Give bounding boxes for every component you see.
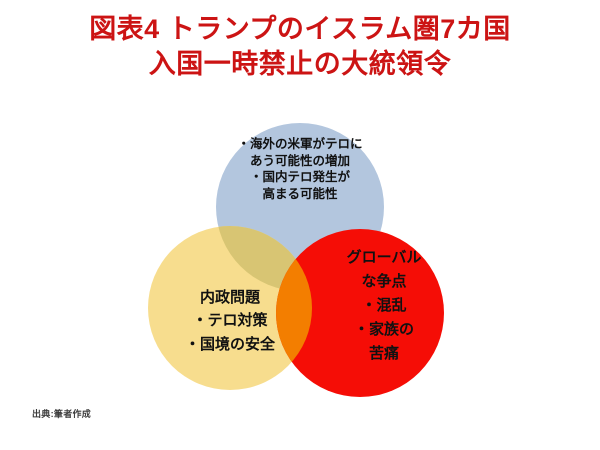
venn-top-circle-text: ・海外の米軍がテロに あう可能性の増加 ・国内テロ発生が 高まる可能性 bbox=[205, 136, 395, 203]
venn-left-line-2: ・テロ対策 bbox=[150, 309, 310, 332]
source-note: 出典:筆者作成 bbox=[32, 407, 91, 420]
venn-right-circle-text: グローバル な争点 ・混乱 ・家族の 苦痛 bbox=[320, 246, 448, 366]
venn-right-line-4: ・家族の bbox=[320, 318, 448, 342]
venn-diagram-shapes bbox=[0, 0, 600, 450]
venn-left-circle-text: 内政問題 ・テロ対策 ・国境の安全 bbox=[150, 286, 310, 356]
venn-right-line-5: 苦痛 bbox=[320, 342, 448, 366]
venn-right-line-1: グローバル bbox=[320, 246, 448, 270]
venn-diagram: ・海外の米軍がテロに あう可能性の増加 ・国内テロ発生が 高まる可能性 内政問題… bbox=[0, 0, 600, 450]
venn-left-line-1: 内政問題 bbox=[150, 286, 310, 309]
venn-right-line-2: な争点 bbox=[320, 270, 448, 294]
venn-top-line-3: ・国内テロ発生が bbox=[205, 169, 395, 186]
venn-right-line-3: ・混乱 bbox=[320, 294, 448, 318]
venn-top-line-4: 高まる可能性 bbox=[205, 186, 395, 203]
venn-top-line-2: あう可能性の増加 bbox=[205, 153, 395, 170]
venn-left-line-3: ・国境の安全 bbox=[150, 333, 310, 356]
venn-top-line-1: ・海外の米軍がテロに bbox=[205, 136, 395, 153]
